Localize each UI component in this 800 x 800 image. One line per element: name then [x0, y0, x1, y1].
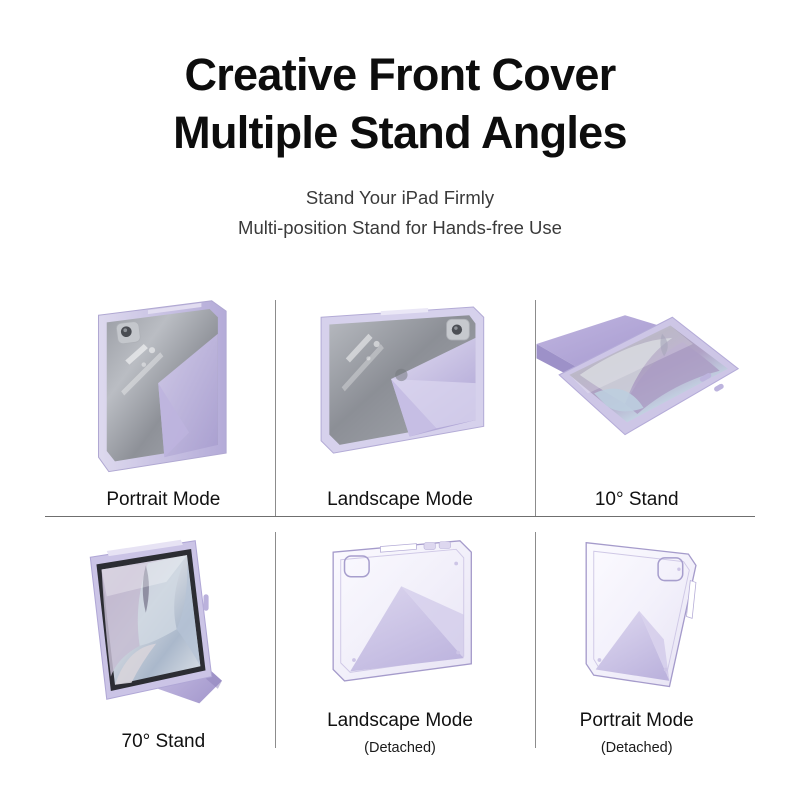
headline-line-1: Creative Front Cover [0, 46, 800, 104]
tablet-back-portrait-stand-icon [45, 278, 282, 488]
header: Creative Front Cover Multiple Stand Angl… [0, 0, 800, 243]
tablet-back-landscape-stand-icon [282, 278, 519, 488]
subtitle-line-2: Multi-position Stand for Hands-free Use [0, 213, 800, 243]
grid-cell-portrait-mode: Portrait Mode [45, 278, 282, 516]
grid-cell-landscape-mode: Landscape Mode [282, 278, 519, 516]
cell-caption: Portrait Mode [106, 488, 220, 516]
product-image-portrait-mode [45, 278, 282, 488]
product-image-landscape-mode [282, 278, 519, 488]
feature-grid: Portrait Mode [45, 278, 755, 758]
cell-caption: Portrait Mode [580, 709, 694, 737]
page-subtitle: Stand Your iPad Firmly Multi-position St… [0, 183, 800, 243]
headline-line-2: Multiple Stand Angles [0, 104, 800, 162]
cell-sub-caption: (Detached) [601, 737, 673, 758]
grid-row-top: Portrait Mode [45, 278, 755, 516]
grid-cell-landscape-mode-detached: Landscape Mode (Detached) [282, 520, 519, 758]
tablet-screen-low-angle-icon [518, 278, 755, 488]
cell-caption: 70° Stand [122, 730, 206, 758]
subtitle-line-1: Stand Your iPad Firmly [0, 183, 800, 213]
grid-cell-portrait-mode-detached: Portrait Mode (Detached) [518, 520, 755, 758]
cell-caption: 10° Stand [595, 488, 679, 516]
cell-caption: Landscape Mode [327, 488, 473, 516]
tablet-screen-high-angle-icon [45, 520, 282, 730]
product-image-stand-10-degree [518, 278, 755, 488]
grid-divider-horizontal [45, 516, 755, 517]
grid-cell-stand-70-degree: 70° Stand [45, 520, 282, 758]
empty-case-portrait-icon [518, 520, 755, 709]
empty-case-landscape-icon [282, 520, 519, 709]
product-image-stand-70-degree [45, 520, 282, 730]
cell-caption: Landscape Mode [327, 709, 473, 737]
grid-row-bottom: 70° Stand [45, 520, 755, 758]
page-title: Creative Front Cover Multiple Stand Angl… [0, 46, 800, 161]
grid-cell-stand-10-degree: 10° Stand [518, 278, 755, 516]
product-image-landscape-detached [282, 520, 519, 709]
product-image-portrait-detached [518, 520, 755, 709]
cell-sub-caption: (Detached) [364, 737, 436, 758]
